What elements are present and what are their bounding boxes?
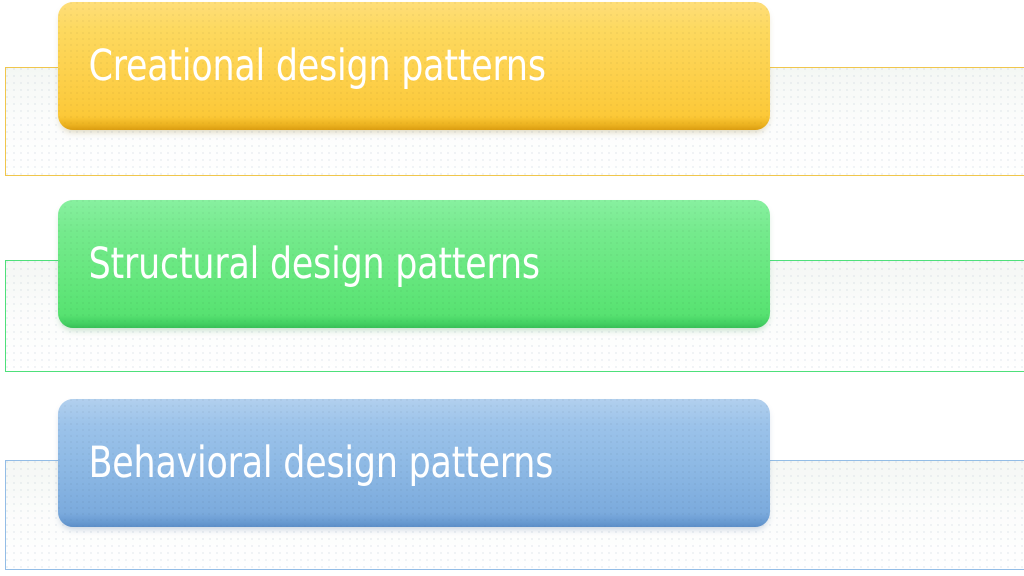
section-title-creational: Creational design patterns bbox=[58, 45, 546, 88]
section-card-structural[interactable]: Structural design patterns bbox=[58, 200, 770, 328]
section-card-behavioral[interactable]: Behavioral design patterns bbox=[58, 399, 770, 527]
section-title-structural: Structural design patterns bbox=[58, 243, 540, 286]
slide-canvas: Creational design patterns Structural de… bbox=[0, 0, 1024, 576]
section-card-creational[interactable]: Creational design patterns bbox=[58, 2, 770, 130]
section-title-behavioral: Behavioral design patterns bbox=[58, 442, 553, 485]
